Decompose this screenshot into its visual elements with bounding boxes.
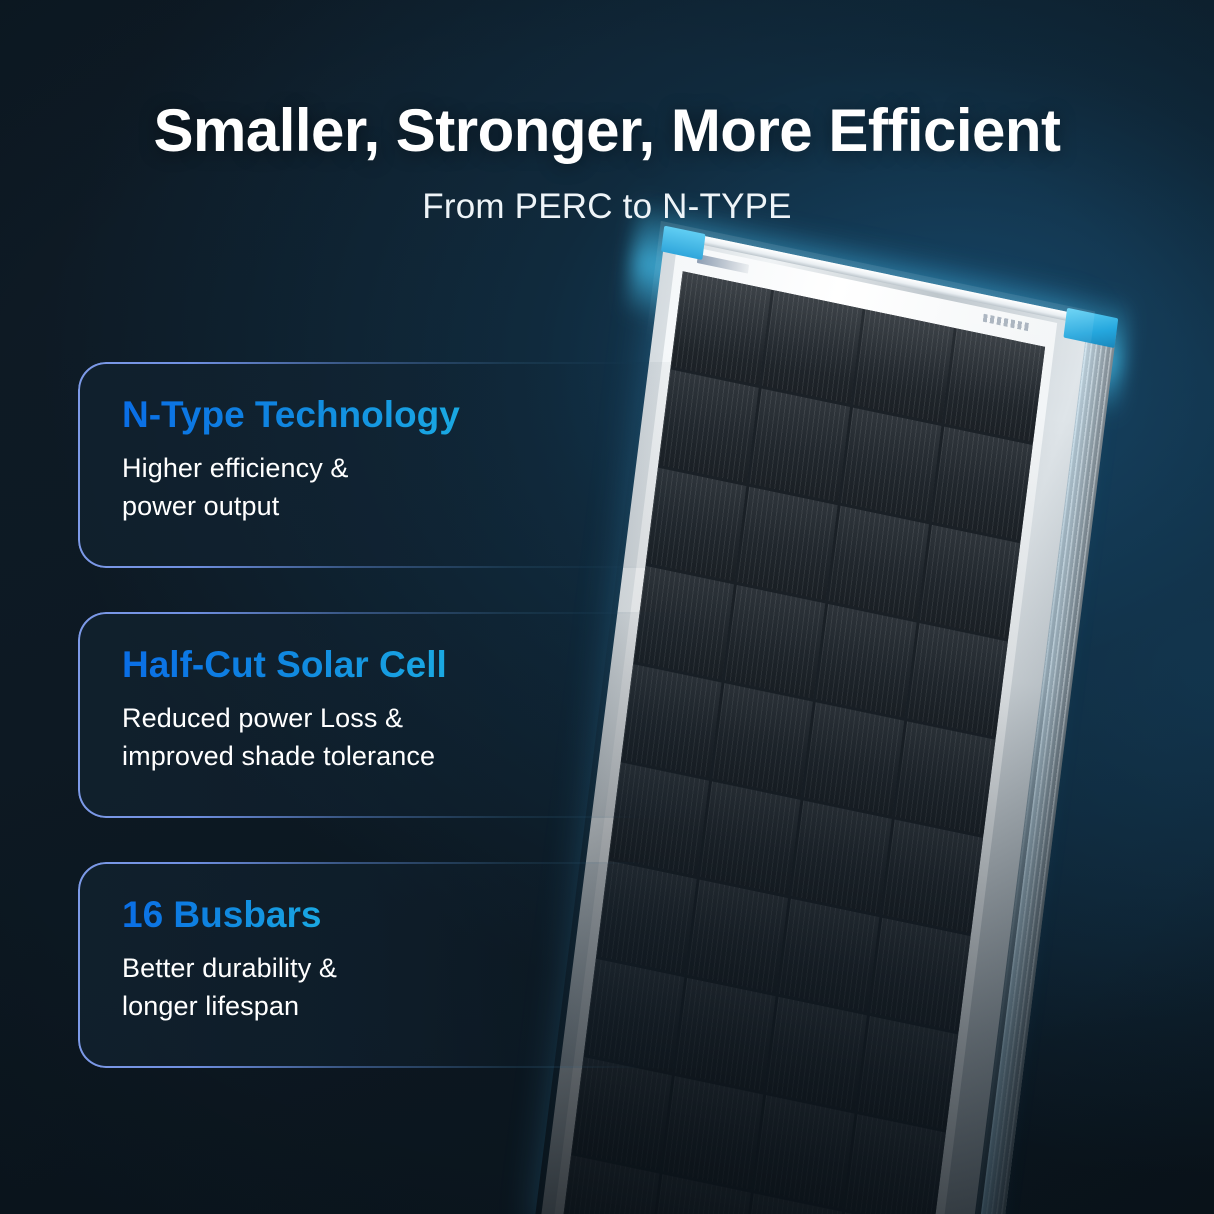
feature-description: Better durability & longer lifespan (122, 949, 718, 1026)
solar-cell (895, 721, 995, 835)
solar-cell (870, 918, 970, 1032)
solar-cell (920, 525, 1020, 639)
solar-cell (841, 408, 941, 522)
solar-cell (750, 389, 850, 503)
feature-card-n-type-technology: N-Type Technology Higher efficiency & po… (78, 362, 718, 568)
solar-cell (816, 604, 916, 718)
solar-cell (853, 309, 953, 423)
feature-title: N-Type Technology (122, 396, 460, 435)
solar-cell (766, 997, 866, 1111)
solar-cell (858, 1016, 958, 1130)
solar-cell (712, 683, 812, 797)
page-title: Smaller, Stronger, More Efficient (0, 96, 1214, 165)
feature-description: Higher efficiency & power output (122, 449, 718, 526)
feature-description: Reduced power Loss & improved shade tole… (122, 699, 718, 776)
feature-description-line: Higher efficiency & (122, 449, 718, 487)
panel-brand-logo (697, 254, 749, 274)
feature-description-line: Better durability & (122, 949, 718, 987)
solar-cell (779, 899, 879, 1013)
feature-description-line: power output (122, 487, 718, 525)
feature-description-line: Reduced power Loss & (122, 699, 718, 737)
solar-cell (845, 1114, 945, 1214)
solar-cell (945, 328, 1045, 442)
solar-cell (883, 820, 983, 934)
feature-description-line: longer lifespan (122, 987, 718, 1025)
feature-card-list: N-Type Technology Higher efficiency & po… (78, 362, 718, 1112)
solar-cell (791, 800, 891, 914)
feature-description-line: improved shade tolerance (122, 737, 718, 775)
solar-cell (932, 427, 1032, 541)
solar-cell (804, 702, 904, 816)
solar-cell (829, 506, 929, 620)
page-subtitle: From PERC to N-TYPE (0, 187, 1214, 227)
solar-cell (907, 623, 1007, 737)
feature-title: Half-Cut Solar Cell (122, 646, 447, 685)
solar-cell (754, 1095, 854, 1209)
header: Smaller, Stronger, More Efficient From P… (0, 0, 1214, 227)
solar-cell (762, 290, 862, 404)
feature-card-16-busbars: 16 Busbars Better durability & longer li… (78, 862, 718, 1068)
feature-card-half-cut-solar-cell: Half-Cut Solar Cell Reduced power Loss &… (78, 612, 718, 818)
solar-cell (725, 585, 825, 699)
feature-title: 16 Busbars (122, 896, 322, 935)
solar-cell (737, 487, 837, 601)
panel-spec-label (983, 314, 1029, 331)
